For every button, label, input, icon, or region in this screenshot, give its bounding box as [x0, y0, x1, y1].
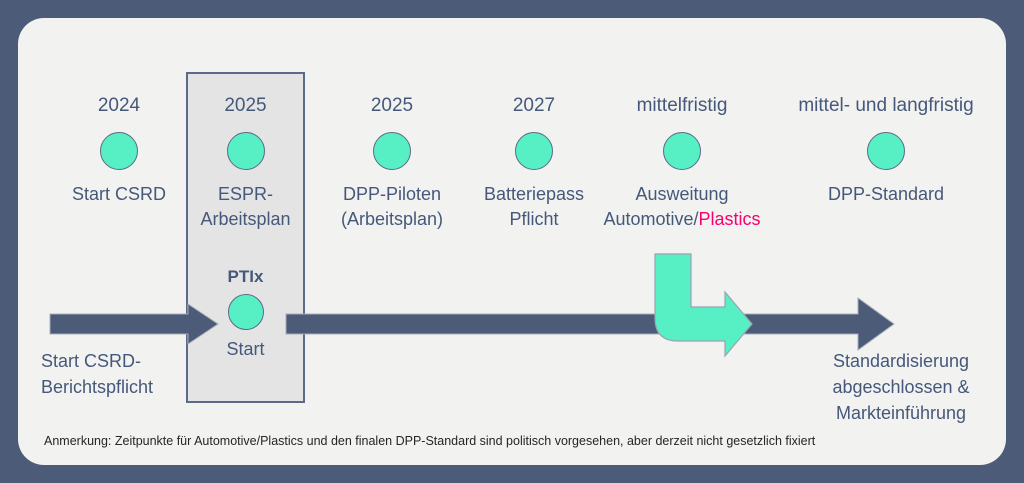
outer-frame: 2024 Start CSRD 2025 ESPR-Arbeitsplan 20…	[0, 0, 1024, 483]
milestone-label: Batteriepass Pflicht	[464, 182, 604, 232]
milestone-label: Ausweitung Automotive/Plastics	[587, 182, 777, 232]
milestone-label: Start CSRD	[34, 182, 204, 207]
milestone-dot-icon	[227, 132, 265, 170]
timeline-panel: 2024 Start CSRD 2025 ESPR-Arbeitsplan 20…	[18, 18, 1006, 465]
end-caption: Standardisierung abgeschlossen & Marktei…	[806, 348, 996, 426]
arrow-segment-main-icon	[286, 298, 894, 350]
start-caption: Start CSRD-Berichtspflicht	[41, 348, 201, 400]
ptix-marker[interactable]: PTIx Start	[186, 266, 305, 361]
milestone-label-accent: Plastics	[699, 209, 761, 229]
milestone-dot-icon	[515, 132, 553, 170]
milestone-dot-icon	[373, 132, 411, 170]
milestone-year: 2025	[186, 94, 305, 118]
milestone-year: 2024	[39, 94, 199, 118]
milestone-year: mittelfristig	[596, 94, 768, 118]
footnote: Anmerkung: Zeitpunkte für Automotive/Pla…	[44, 433, 974, 449]
milestone-dot-icon	[867, 132, 905, 170]
ptix-dot-icon	[228, 294, 264, 330]
milestone-year: 2025	[314, 94, 470, 118]
milestone-label: DPP-Standard	[826, 182, 946, 207]
milestone-year: 2027	[464, 94, 604, 118]
ptix-label: Start	[186, 337, 305, 361]
ptix-title: PTIx	[186, 266, 305, 288]
milestone-label: ESPR-Arbeitsplan	[188, 182, 303, 232]
arrow-bent-ausweitung-icon	[655, 254, 752, 356]
milestone-dot-icon	[663, 132, 701, 170]
milestone-year: mittel- und langfristig	[780, 94, 992, 118]
milestone-dot-icon	[100, 132, 138, 170]
milestone-label: DPP-Piloten (Arbeitsplan)	[312, 182, 472, 232]
